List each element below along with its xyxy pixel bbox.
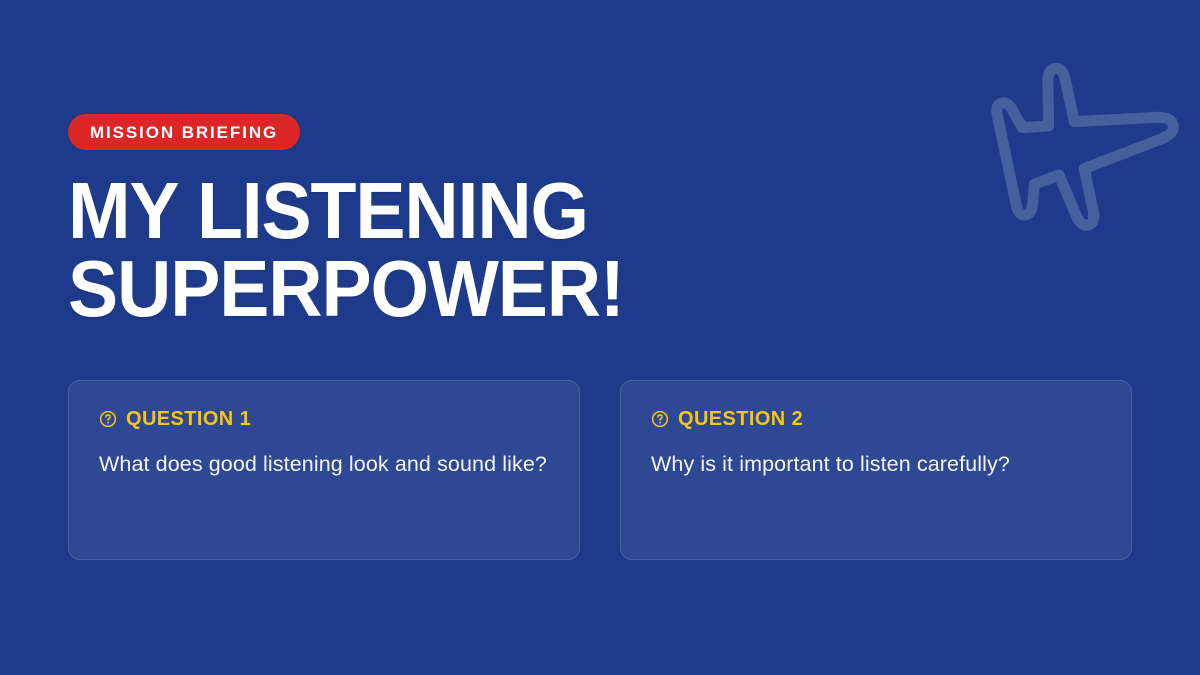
slide-canvas: MISSION BRIEFING MY LISTENING SUPERPOWER…	[0, 0, 1200, 675]
question-card-2-header: QUESTION 2	[651, 409, 1101, 429]
badge-label: MISSION BRIEFING	[90, 124, 278, 141]
page-title-line-1: MY LISTENING	[68, 172, 801, 250]
question-card-1-label: QUESTION 1	[126, 409, 251, 429]
question-card-2: QUESTION 2 Why is it important to listen…	[620, 380, 1132, 560]
question-card-2-label: QUESTION 2	[678, 409, 803, 429]
airplane-icon	[955, 35, 1185, 255]
question-card-2-body: Why is it important to listen carefully?	[651, 449, 1101, 481]
page-title: MY LISTENING SUPERPOWER!	[68, 172, 848, 329]
question-circle-icon	[651, 410, 669, 428]
page-title-line-2: SUPERPOWER!	[68, 250, 801, 328]
question-card-1: QUESTION 1 What does good listening look…	[68, 380, 580, 560]
question-card-1-header: QUESTION 1	[99, 409, 549, 429]
mission-briefing-badge: MISSION BRIEFING	[68, 114, 300, 150]
question-circle-icon	[99, 410, 117, 428]
question-card-list: QUESTION 1 What does good listening look…	[68, 380, 1132, 560]
question-card-1-body: What does good listening look and sound …	[99, 449, 549, 481]
